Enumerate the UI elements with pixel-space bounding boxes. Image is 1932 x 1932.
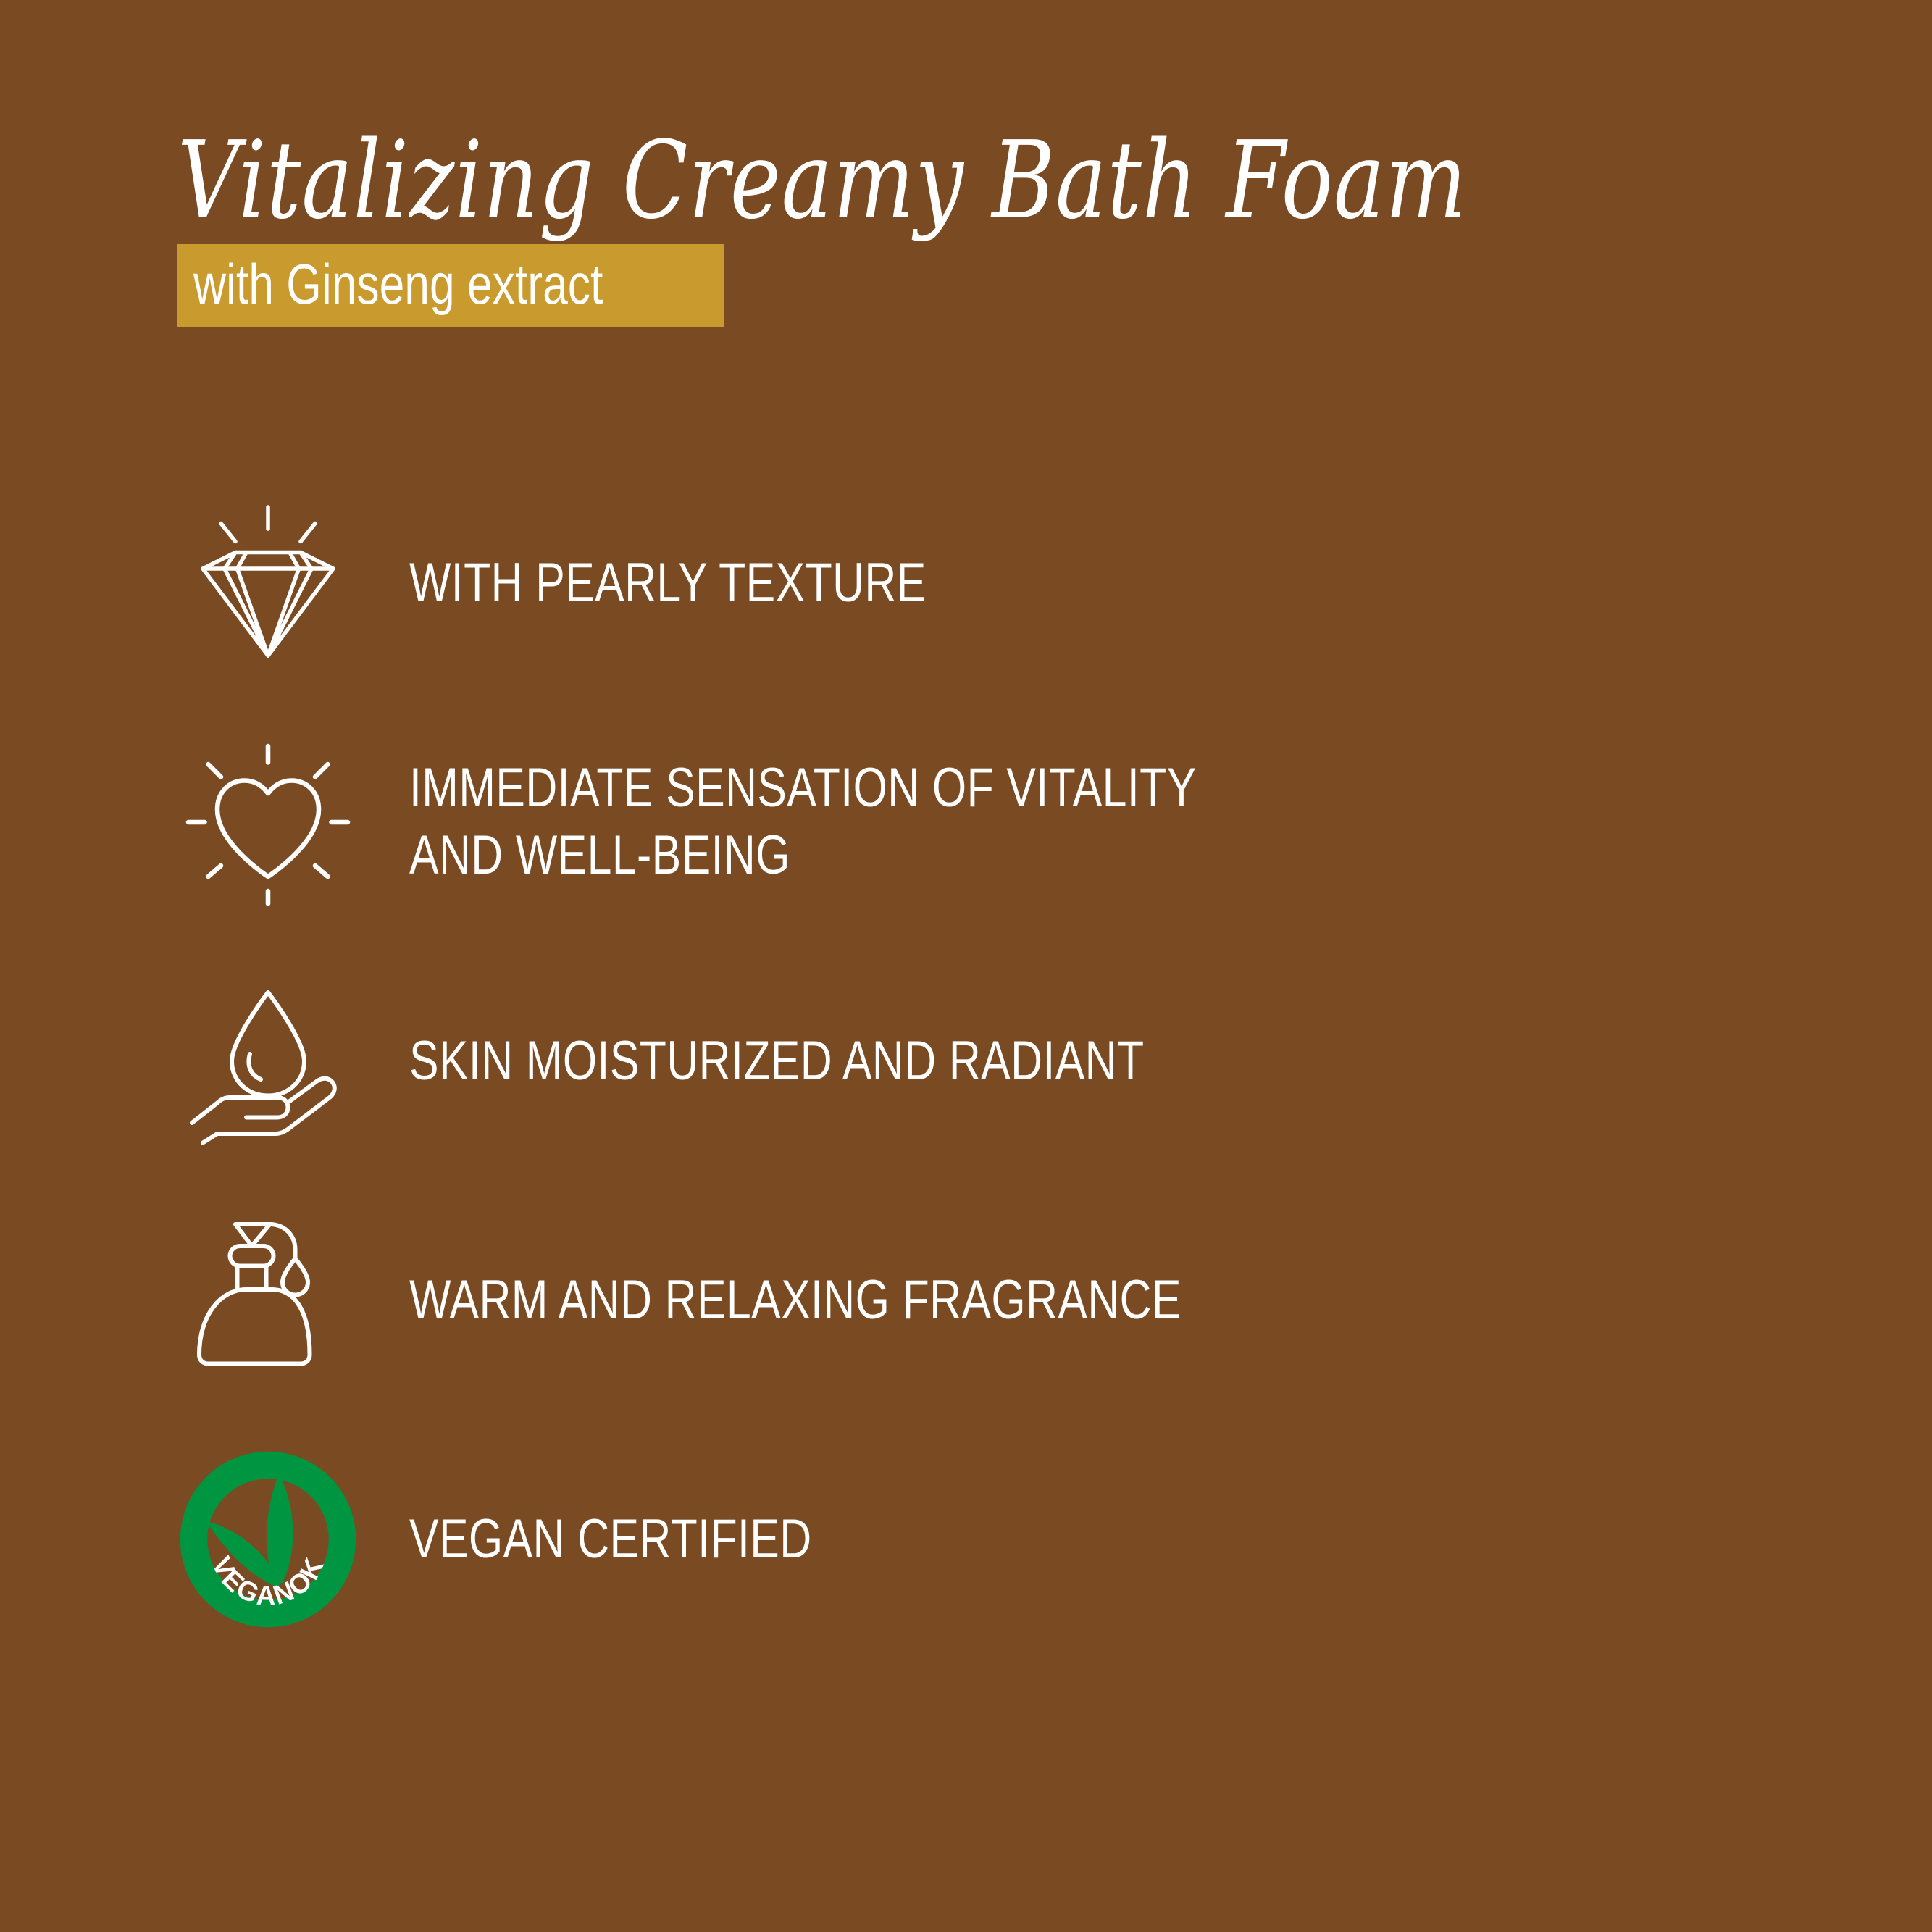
feature-label: IMMEDIATE SENSATION OF VITALITY AND WELL… (409, 755, 1197, 889)
soap-dispenser-icon (177, 1210, 359, 1391)
feature-row: SKIN MOISTURIZED AND RADIANT (177, 942, 1771, 1181)
feature-label: SKIN MOISTURIZED AND RADIANT (409, 1028, 1145, 1095)
radiant-heart-icon (177, 732, 359, 913)
subtitle-label: with Ginseng extract (193, 256, 603, 312)
diamond-sparkle-icon (177, 493, 359, 674)
subtitle-badge: with Ginseng extract (177, 244, 724, 327)
page-title: Vitalizing Creamy Bath Foam (177, 127, 1394, 234)
veganok-logo-icon: VEGANOK (177, 1449, 359, 1630)
feature-row: WARM AND RELAXING FRAGRANCE (177, 1181, 1771, 1420)
feature-label: VEGAN CERTIFIED (409, 1506, 812, 1573)
feature-row: IMMEDIATE SENSATION OF VITALITY AND WELL… (177, 703, 1771, 942)
feature-label: WITH PEARLY TEXTURE (409, 550, 927, 617)
feature-list: WITH PEARLY TEXTURE IMMED (177, 464, 1771, 1659)
feature-row: WITH PEARLY TEXTURE (177, 464, 1771, 703)
product-feature-panel: Vitalizing Creamy Bath Foam with Ginseng… (0, 0, 1932, 1932)
header: Vitalizing Creamy Bath Foam with Ginseng… (177, 127, 1699, 327)
droplet-on-hand-icon (177, 971, 359, 1152)
feature-row: VEGANOK VEGAN CERTIFIED (177, 1420, 1771, 1659)
feature-label: WARM AND RELAXING FRAGRANCE (409, 1267, 1182, 1334)
